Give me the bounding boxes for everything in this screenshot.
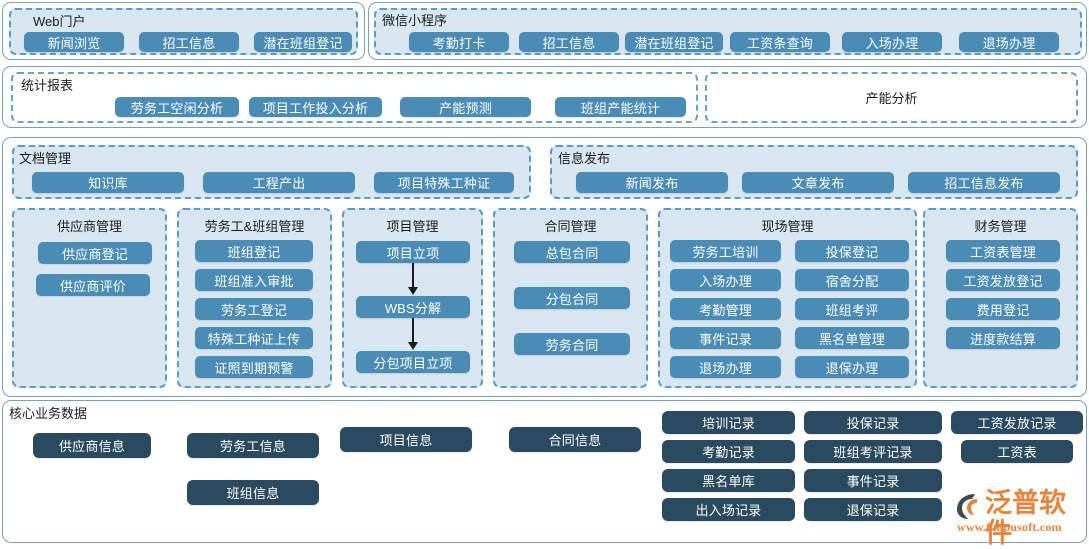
button-potential-team-registration[interactable]: 潜在班组登记 [254,32,352,52]
supplier-management-panel: 供应商管理 供应商登记 供应商评价 [12,208,167,388]
button-attendance-management[interactable]: 考勤管理 [670,298,781,320]
data-payroll-table[interactable]: 工资表 [961,440,1073,463]
finance-management-title: 财务管理 [925,219,1076,234]
data-supplier-info[interactable]: 供应商信息 [33,433,151,458]
button-entry-processing[interactable]: 入场办理 [842,32,942,52]
middle-container: 文档管理 知识库 工程产出 项目特殊工种证 信息发布 新闻发布 文章发布 招工信… [2,137,1087,397]
site-management-title: 现场管理 [660,219,915,234]
information-publishing-title: 信息发布 [558,151,610,166]
flow-arrow-1 [412,263,414,288]
data-team-info[interactable]: 班组信息 [187,480,319,505]
button-site-entry-processing[interactable]: 入场办理 [670,269,781,291]
project-management-title: 项目管理 [344,219,481,234]
core-business-data-title: 核心业务数据 [9,406,87,421]
button-payroll-management[interactable]: 工资表管理 [946,240,1060,262]
button-team-registration[interactable]: 班组登记 [195,240,313,262]
button-project-initiation[interactable]: 项目立项 [356,241,470,263]
data-contract-info[interactable]: 合同信息 [509,427,641,452]
button-incident-record[interactable]: 事件记录 [670,327,781,349]
flow-arrow-2 [412,318,414,343]
data-insurance-cancellation-record[interactable]: 退保记录 [804,498,942,521]
statistics-reports-title: 统计报表 [21,78,73,93]
button-publish-article[interactable]: 文章发布 [742,172,894,193]
button-exit-processing[interactable]: 退场办理 [959,32,1059,52]
statistics-reports-panel: 统计报表 劳务工空闲分析 项目工作投入分析 产能预测 班组产能统计 [11,72,698,123]
button-subcontract-project-initiation[interactable]: 分包项目立项 [356,351,470,373]
supplier-management-title: 供应商管理 [14,219,165,234]
worker-team-management-panel: 劳务工&班组管理 班组登记 班组准入审批 劳务工登记 特殊工种证上传 证照到期预… [177,208,332,388]
logo-url: www.fanpusoft.com [957,520,1062,535]
button-publish-news[interactable]: 新闻发布 [576,172,728,193]
button-project-workload-analysis[interactable]: 项目工作投入分析 [249,97,382,117]
button-publish-recruitment-info[interactable]: 招工信息发布 [908,172,1060,193]
button-team-entry-approval[interactable]: 班组准入审批 [195,269,313,291]
button-general-contract[interactable]: 总包合同 [514,241,630,263]
project-management-panel: 项目管理 项目立项 WBS分解 分包项目立项 [342,208,483,388]
button-expense-registration[interactable]: 费用登记 [946,298,1060,320]
button-insurance-registration[interactable]: 投保登记 [795,240,909,262]
button-news-browse[interactable]: 新闻浏览 [24,32,124,52]
information-publishing-panel: 信息发布 新闻发布 文章发布 招工信息发布 [550,145,1078,199]
contract-management-title: 合同管理 [495,219,646,234]
button-idle-worker-analysis[interactable]: 劳务工空闲分析 [115,97,239,117]
button-payroll-issue-registration[interactable]: 工资发放登记 [946,269,1060,291]
button-blacklist-management[interactable]: 黑名单管理 [795,327,909,349]
core-business-data-panel: 核心业务数据 供应商信息 劳务工信息 项目信息 合同信息 班组信息 培训记录 考… [2,400,1087,543]
button-knowledge-base[interactable]: 知识库 [32,172,184,193]
architecture-diagram: Web门户 新闻浏览 招工信息 潜在班组登记 微信小程序 考勤打卡 招工信息 潜… [0,0,1089,545]
wechat-miniapp-container: 微信小程序 考勤打卡 招工信息 潜在班组登记 工资条查询 入场办理 退场办理 [368,2,1087,60]
button-team-capacity-statistics[interactable]: 班组产能统计 [555,97,686,117]
data-blacklist-database[interactable]: 黑名单库 [662,469,795,492]
data-incident-record[interactable]: 事件记录 [804,469,942,492]
web-portal-title: Web门户 [33,14,86,29]
button-worker-training[interactable]: 劳务工培训 [670,240,781,262]
web-portal-panel: Web门户 新闻浏览 招工信息 潜在班组登记 [9,8,358,55]
button-worker-registration[interactable]: 劳务工登记 [195,298,313,320]
button-supplier-evaluation[interactable]: 供应商评价 [36,274,150,296]
worker-team-management-title: 劳务工&班组管理 [179,219,330,234]
data-insurance-record[interactable]: 投保记录 [804,411,942,434]
document-management-title: 文档管理 [19,151,71,166]
data-payroll-issue-record[interactable]: 工资发放记录 [951,411,1083,434]
button-payslip-query[interactable]: 工资条查询 [730,32,830,52]
fanpu-arc-icon [955,491,985,521]
logo-name: 泛普软件 [985,489,1085,549]
button-engineering-output[interactable]: 工程产出 [203,172,355,193]
button-insurance-cancellation[interactable]: 退保办理 [795,356,909,378]
button-labor-contract[interactable]: 劳务合同 [514,333,630,355]
data-team-evaluation-record[interactable]: 班组考评记录 [804,440,942,463]
button-team-evaluation[interactable]: 班组考评 [795,298,909,320]
button-recruitment-info[interactable]: 招工信息 [139,32,239,52]
vendor-logo: 泛普软件 www.fanpusoft.com [955,489,1085,541]
button-special-work-cert-upload[interactable]: 特殊工种证上传 [195,327,313,349]
top-row-container: Web门户 新闻浏览 招工信息 潜在班组登记 [2,2,365,60]
capacity-analysis-panel: 产能分析 [705,72,1078,123]
button-site-exit-processing[interactable]: 退场办理 [670,356,781,378]
data-attendance-record[interactable]: 考勤记录 [662,440,795,463]
finance-management-panel: 财务管理 工资表管理 工资发放登记 费用登记 进度款结算 [923,208,1078,388]
button-recruitment-info-wechat[interactable]: 招工信息 [519,32,619,52]
button-dormitory-allocation[interactable]: 宿舍分配 [795,269,909,291]
statistics-row-container: 统计报表 劳务工空闲分析 项目工作投入分析 产能预测 班组产能统计 产能分析 [2,66,1087,128]
button-supplier-registration[interactable]: 供应商登记 [38,242,152,264]
contract-management-panel: 合同管理 总包合同 分包合同 劳务合同 [493,208,648,388]
data-project-info[interactable]: 项目信息 [340,427,472,452]
wechat-miniapp-title: 微信小程序 [382,13,447,28]
document-management-panel: 文档管理 知识库 工程产出 项目特殊工种证 [12,145,531,199]
data-entry-exit-record[interactable]: 出入场记录 [662,498,795,521]
button-potential-team-registration-wechat[interactable]: 潜在班组登记 [625,32,723,52]
button-progress-payment-settlement[interactable]: 进度款结算 [946,327,1060,349]
button-subcontract[interactable]: 分包合同 [514,287,630,309]
button-capacity-forecast[interactable]: 产能预测 [400,97,531,117]
wechat-miniapp-panel: 微信小程序 考勤打卡 招工信息 潜在班组登记 工资条查询 入场办理 退场办理 [374,8,1082,55]
data-training-record[interactable]: 培训记录 [662,411,795,434]
button-certificate-expiry-alert[interactable]: 证照到期预警 [195,356,313,378]
site-management-panel: 现场管理 劳务工培训 入场办理 考勤管理 事件记录 退场办理 投保登记 宿舍分配… [658,208,917,388]
button-wbs-breakdown[interactable]: WBS分解 [356,296,470,318]
button-attendance-checkin[interactable]: 考勤打卡 [409,32,509,52]
button-project-special-work-cert[interactable]: 项目特殊工种证 [374,172,514,193]
capacity-analysis-title: 产能分析 [707,91,1076,106]
data-worker-info[interactable]: 劳务工信息 [187,433,319,458]
